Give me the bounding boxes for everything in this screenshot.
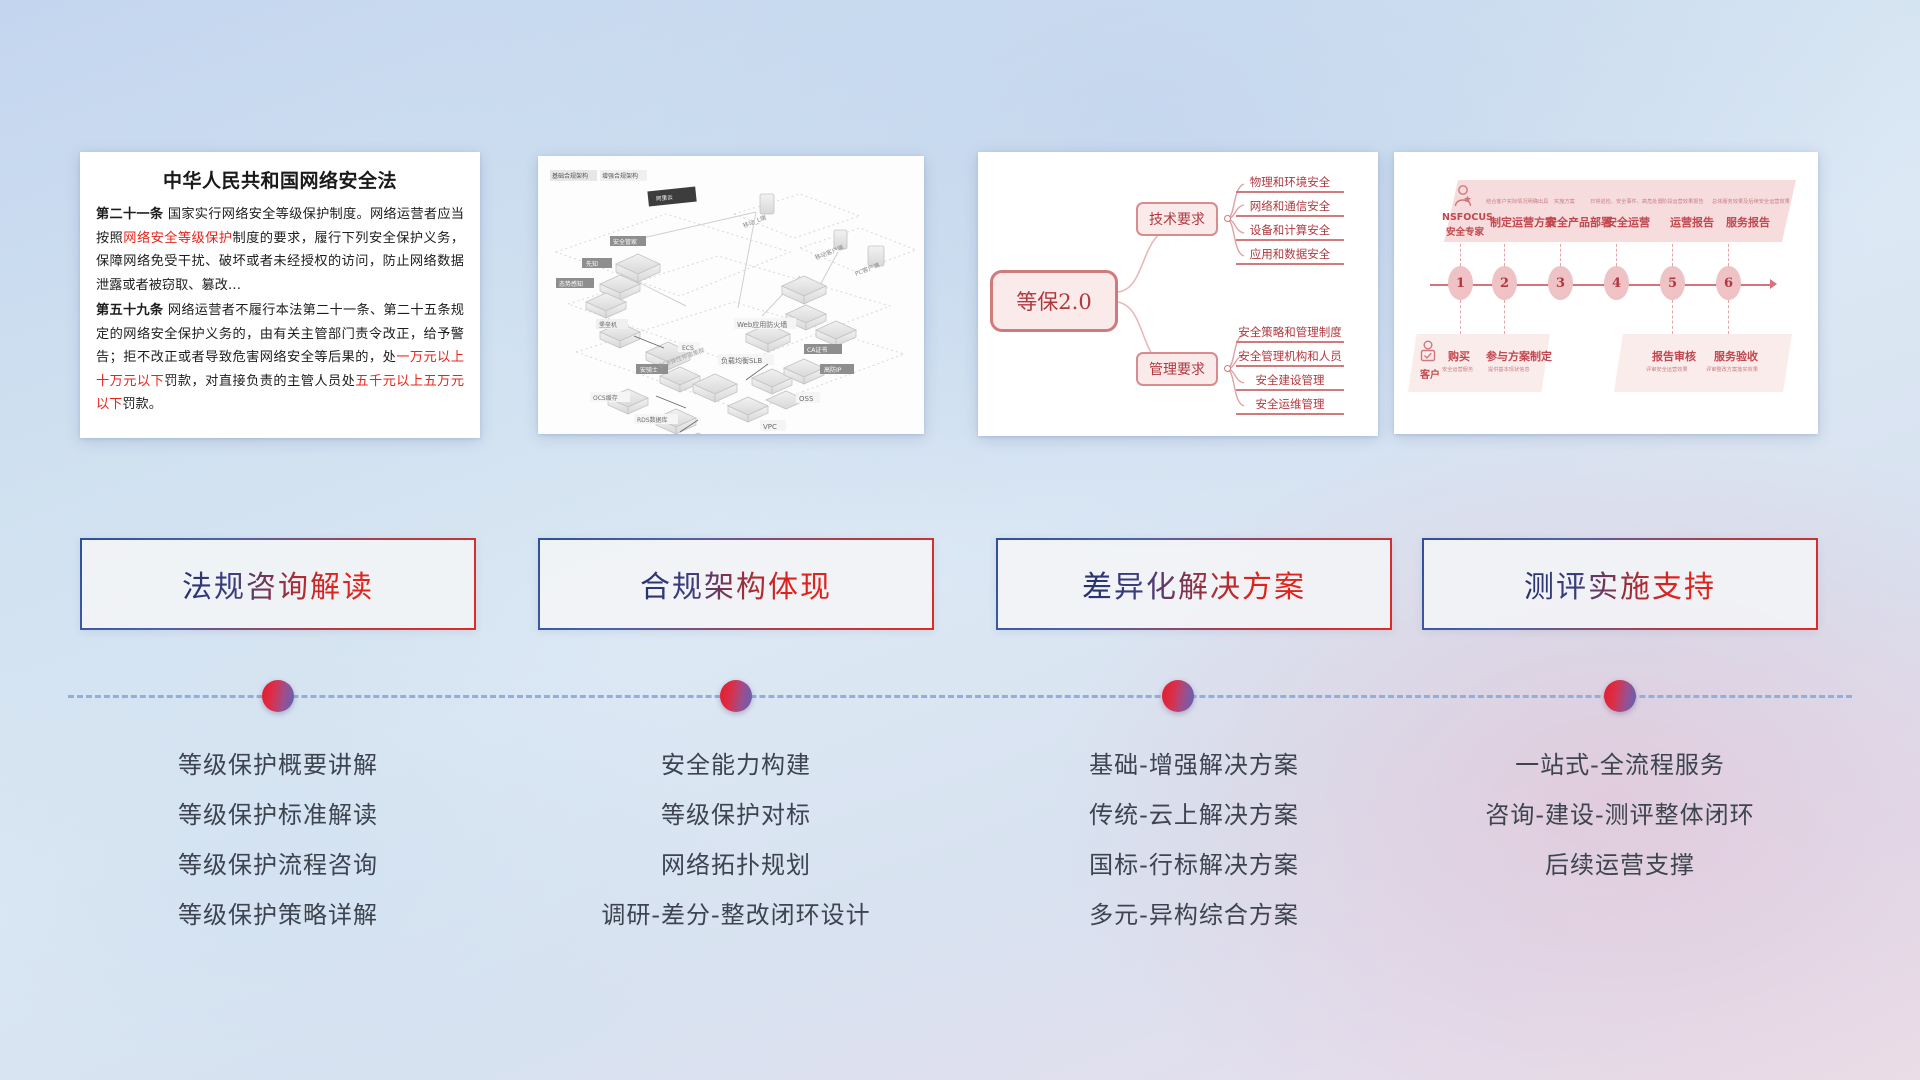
article-59-text-c: 罚款。 (122, 397, 162, 412)
timeline-bottom-title: 报告审核 (1652, 348, 1696, 364)
timeline-node[interactable]: 3 (1548, 266, 1573, 300)
headline-box-compliance-architecture[interactable]: 合规架构体现 (538, 538, 934, 630)
timeline-node[interactable]: 6 (1716, 266, 1741, 300)
timeline-stem (1672, 300, 1673, 334)
card-cybersecurity-law[interactable]: 中华人民共和国网络安全法 第二十一条 国家实行网络安全等级保护制度。网络运营者应… (80, 152, 480, 438)
timeline-top-sub: 日常巡检、安全事件、高危处置 (1590, 198, 1663, 205)
timeline-stem (1672, 244, 1673, 266)
rail-dot-1[interactable] (262, 680, 294, 712)
detail-item: 后续运营支撑 (1422, 840, 1818, 890)
timeline-top-title: 安全运营 (1606, 214, 1650, 230)
timeline-bottom-sub: 提供基本现状信息 (1488, 366, 1530, 373)
headline-box-regulation-consulting[interactable]: 法规咨询解读 (80, 538, 476, 630)
law-article-21: 第二十一条 国家实行网络安全等级保护制度。网络运营者应当按照网络安全等级保护制度… (96, 203, 464, 297)
detail-item: 等级保护概要讲解 (80, 740, 476, 790)
svg-text:态势感知: 态势感知 (559, 280, 583, 288)
headline-box-differentiated-solutions[interactable]: 差异化解决方案 (996, 538, 1392, 630)
headline-box-evaluation-support[interactable]: 测评实施支持 (1422, 538, 1818, 630)
detail-item: 国标-行标解决方案 (996, 840, 1392, 890)
headline-label: 法规咨询解读 (182, 562, 374, 606)
timeline-top-sub: 总体服务效果及后续安全运营效果 (1712, 198, 1790, 205)
rail-dot-3[interactable] (1162, 680, 1194, 712)
detail-item: 安全能力构建 (538, 740, 934, 790)
timeline-rail (68, 695, 1852, 698)
timeline-top-title: 安全产品部署 (1546, 214, 1612, 230)
card-cloud-architecture[interactable]: 基础合规架构 增强合规架构 阿里云 安全管家 先知 态势感知 堡垒机 ECS 安… (538, 156, 924, 434)
mindmap-branch-technical: 技术要求 (1136, 202, 1218, 236)
svg-text:Web应用防火墙: Web应用防火墙 (737, 320, 787, 329)
mindmap-leaf: 安全管理机构和人员 (1236, 348, 1344, 367)
law-article-59: 第五十九条 网络运营者不履行本法第二十一条、第二十五条规定的网络安全保护义务的，… (96, 299, 464, 417)
timeline-top-sub: 阶段运营效果报告 (1662, 198, 1704, 205)
svg-text:基础合规架构: 基础合规架构 (552, 172, 588, 180)
timeline-bottom-title: 参与方案制定 (1486, 348, 1552, 364)
timeline-bottom-sub: 评审安全运营效果 (1646, 366, 1688, 373)
mindmap-leaf: 物理和环境安全 (1236, 174, 1344, 193)
detail-item: 传统-云上解决方案 (996, 790, 1392, 840)
svg-text:负载均衡SLB: 负载均衡SLB (721, 356, 762, 365)
detail-item: 调研-差分-整改闭环设计 (538, 890, 934, 940)
svg-text:安全管家: 安全管家 (613, 238, 637, 246)
timeline-top-sub: 实施方案 (1554, 198, 1575, 205)
headline-label: 测评实施支持 (1524, 562, 1716, 606)
svg-text:安骑士: 安骑士 (640, 366, 658, 374)
headline-row: 法规咨询解读 合规架构体现 差异化解决方案 测评实施支持 (0, 538, 1920, 648)
timeline-stem (1728, 300, 1729, 334)
service-timeline: NSFOCUS 安全专家 客户 1 2 (1394, 152, 1818, 434)
svg-text:高防IP: 高防IP (824, 366, 842, 374)
customer-person-icon (1418, 340, 1438, 364)
mindmap-leaf: 安全策略和管理制度 (1236, 324, 1344, 343)
detail-item: 等级保护流程咨询 (80, 840, 476, 890)
timeline-node[interactable]: 1 (1448, 266, 1473, 300)
timeline-node[interactable]: 4 (1604, 266, 1629, 300)
timeline-stem (1616, 244, 1617, 266)
svg-text:RDS数据库: RDS数据库 (637, 416, 668, 424)
expert-label-line1: NSFOCUS (1442, 212, 1493, 223)
detail-item: 网络拓扑规划 (538, 840, 934, 890)
mindmap-leaf: 应用和数据安全 (1236, 246, 1344, 265)
svg-text:移动_L端: 移动_L端 (742, 213, 768, 230)
timeline-bottom-title: 购买 (1448, 348, 1470, 364)
detail-item: 一站式-全流程服务 (1422, 740, 1818, 790)
mindmap-leaf: 安全建设管理 (1236, 372, 1344, 391)
timeline-stem (1504, 300, 1505, 334)
article-59-label: 第五十九条 (96, 303, 163, 318)
timeline-stem (1560, 244, 1561, 266)
mindmap-root-node: 等保2.0 (990, 270, 1118, 332)
detail-item: 等级保护策略详解 (80, 890, 476, 940)
svg-text:移动客户端: 移动客户端 (814, 243, 845, 262)
detail-column-regulation: 等级保护概要讲解 等级保护标准解读 等级保护流程咨询 等级保护策略详解 (80, 740, 476, 940)
timeline-top-title: 服务报告 (1726, 214, 1770, 230)
detail-column-architecture: 安全能力构建 等级保护对标 网络拓扑规划 调研-差分-整改闭环设计 (538, 740, 934, 940)
svg-text:VPC: VPC (763, 423, 777, 431)
rail-dot-4[interactable] (1604, 680, 1636, 712)
timeline-stem (1504, 244, 1505, 266)
law-card-title: 中华人民共和国网络安全法 (96, 166, 464, 193)
customer-label: 客户 (1420, 366, 1440, 381)
headline-label: 差异化解决方案 (1082, 562, 1306, 606)
rail-dot-2[interactable] (720, 680, 752, 712)
svg-text:增强合规架构: 增强合规架构 (602, 172, 638, 180)
architecture-diagram: 基础合规架构 增强合规架构 阿里云 安全管家 先知 态势感知 堡垒机 ECS 安… (538, 156, 924, 434)
detail-column-solutions: 基础-增强解决方案 传统-云上解决方案 国标-行标解决方案 多元-异构综合方案 (996, 740, 1392, 940)
article-21-label: 第二十一条 (96, 207, 163, 222)
timeline-top-title: 运营报告 (1670, 214, 1714, 230)
expert-label-line2: 安全专家 (1446, 224, 1484, 238)
timeline-bottom-sub: 评审整改方案落实效果 (1706, 366, 1758, 373)
svg-text:CA证书: CA证书 (807, 346, 827, 354)
expert-person-icon (1452, 184, 1474, 208)
svg-text:PC客户端: PC客户端 (854, 261, 881, 278)
timeline-stem (1460, 244, 1461, 266)
svg-text:OCS缓存: OCS缓存 (593, 394, 618, 402)
preview-card-row: 中华人民共和国网络安全法 第二十一条 国家实行网络安全等级保护制度。网络运营者应… (0, 0, 1920, 460)
mindmap: 等保2.0 技术要求 管理要求 物理和环境安全 网络和通信安全 设备和计算安全 … (978, 152, 1378, 436)
timeline-stem (1460, 300, 1461, 334)
architecture-svg: 基础合规架构 增强合规架构 阿里云 安全管家 先知 态势感知 堡垒机 ECS 安… (538, 156, 924, 434)
timeline-top-sub: 结合客户实际情况明确出具 (1486, 198, 1548, 205)
article-21-highlight: 网络安全等级保护 (123, 231, 232, 246)
timeline-stem (1728, 244, 1729, 266)
card-service-timeline[interactable]: NSFOCUS 安全专家 客户 1 2 (1394, 152, 1818, 434)
detail-column-row: 等级保护概要讲解 等级保护标准解读 等级保护流程咨询 等级保护策略详解 安全能力… (0, 740, 1920, 990)
mindmap-leaf: 网络和通信安全 (1236, 198, 1344, 217)
detail-item: 咨询-建设-测评整体闭环 (1422, 790, 1818, 840)
timeline-node[interactable]: 2 (1492, 266, 1517, 300)
mindmap-collapse-dot-technical[interactable] (1224, 215, 1231, 222)
card-mindmap-dengbao[interactable]: 等保2.0 技术要求 管理要求 物理和环境安全 网络和通信安全 设备和计算安全 … (978, 152, 1378, 436)
detail-item: 基础-增强解决方案 (996, 740, 1392, 790)
svg-text:堡垒机: 堡垒机 (599, 321, 617, 329)
timeline-bottom-title: 服务验收 (1714, 348, 1758, 364)
timeline-band-customer-right (1614, 334, 1792, 392)
mindmap-leaf: 安全运维管理 (1236, 396, 1344, 415)
mindmap-branch-management: 管理要求 (1136, 352, 1218, 386)
detail-item: 等级保护标准解读 (80, 790, 476, 840)
article-59-text-b: 罚款，对直接负责的主管人员处 (164, 374, 355, 389)
svg-text:先知: 先知 (586, 260, 598, 268)
timeline-arrow-icon (1770, 279, 1777, 289)
timeline-node[interactable]: 5 (1660, 266, 1685, 300)
svg-text:OSS: OSS (799, 395, 814, 403)
timeline-bottom-sub: 安全运营服务 (1442, 366, 1473, 373)
mindmap-leaf: 设备和计算安全 (1236, 222, 1344, 241)
detail-column-evaluation: 一站式-全流程服务 咨询-建设-测评整体闭环 后续运营支撑 (1422, 740, 1818, 890)
timeline-band-provider (1444, 180, 1796, 242)
detail-item: 等级保护对标 (538, 790, 934, 840)
mindmap-collapse-dot-management[interactable] (1224, 365, 1231, 372)
headline-label: 合规架构体现 (640, 562, 832, 606)
detail-item: 多元-异构综合方案 (996, 890, 1392, 940)
